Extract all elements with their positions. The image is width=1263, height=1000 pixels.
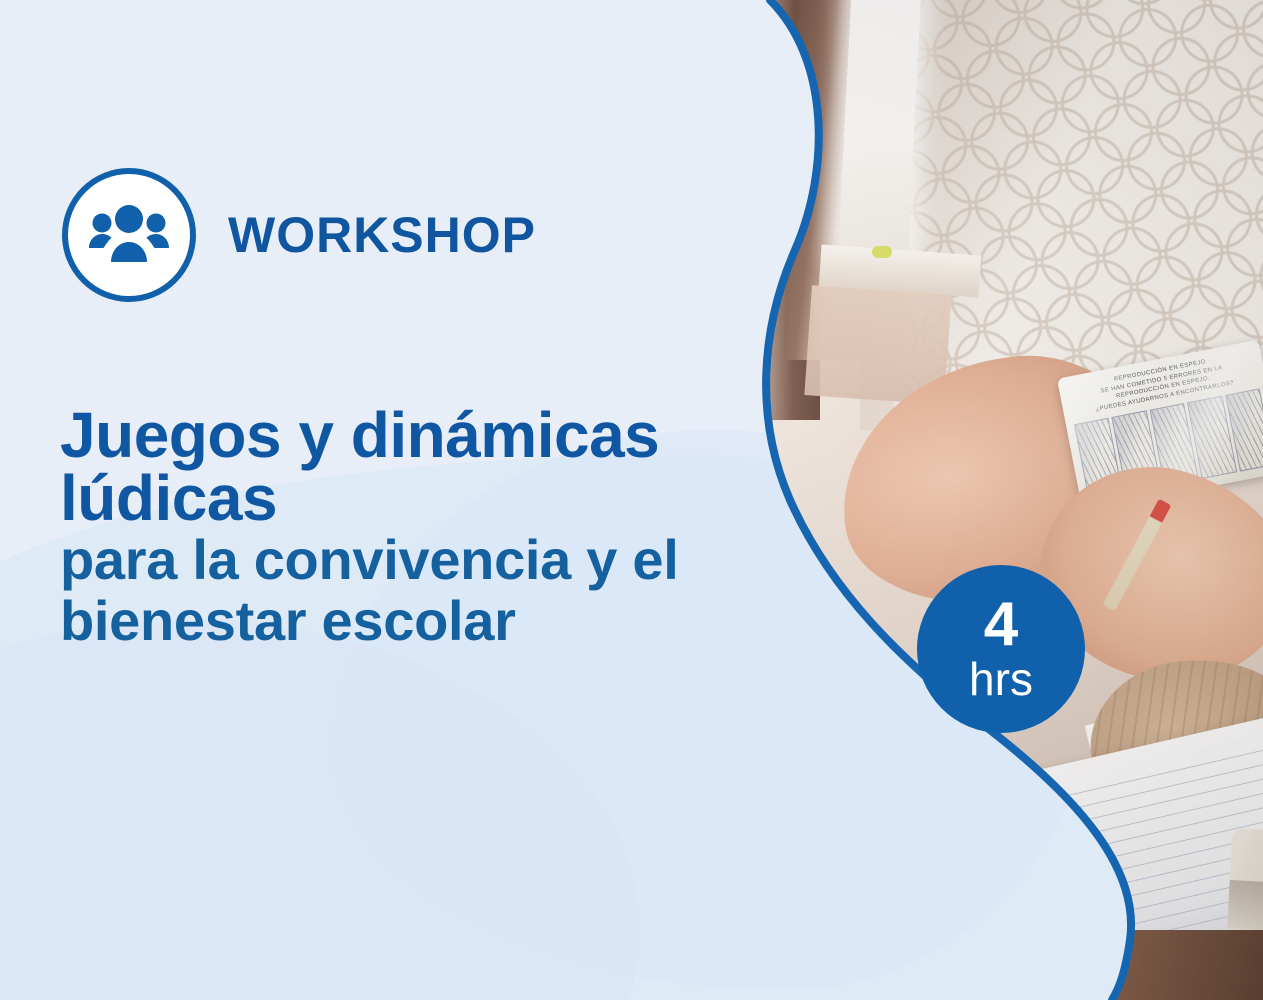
- category-badge-label: WORKSHOP: [228, 210, 536, 260]
- workshop-banner: REPRODUCCIÓN EN ESPEJO SE HAN COMETIDO 5…: [0, 0, 1263, 1000]
- category-badge: WORKSHOP: [62, 168, 536, 302]
- duration-unit: hrs: [969, 656, 1033, 702]
- headline-line-4: bienestar escolar: [60, 592, 760, 650]
- group-people-icon: [62, 168, 196, 302]
- duration-badge: 4 hrs: [917, 565, 1085, 733]
- duration-value: 4: [984, 596, 1018, 653]
- headline-block: Juegos y dinámicas lúdicas para la convi…: [60, 404, 760, 650]
- banner-content: WORKSHOP Juegos y dinámicas lúdicas para…: [0, 0, 1263, 1000]
- headline-line-2: lúdicas: [60, 467, 760, 530]
- headline-line-1: Juegos y dinámicas: [60, 404, 760, 467]
- headline-line-3: para la convivencia y el: [60, 531, 760, 589]
